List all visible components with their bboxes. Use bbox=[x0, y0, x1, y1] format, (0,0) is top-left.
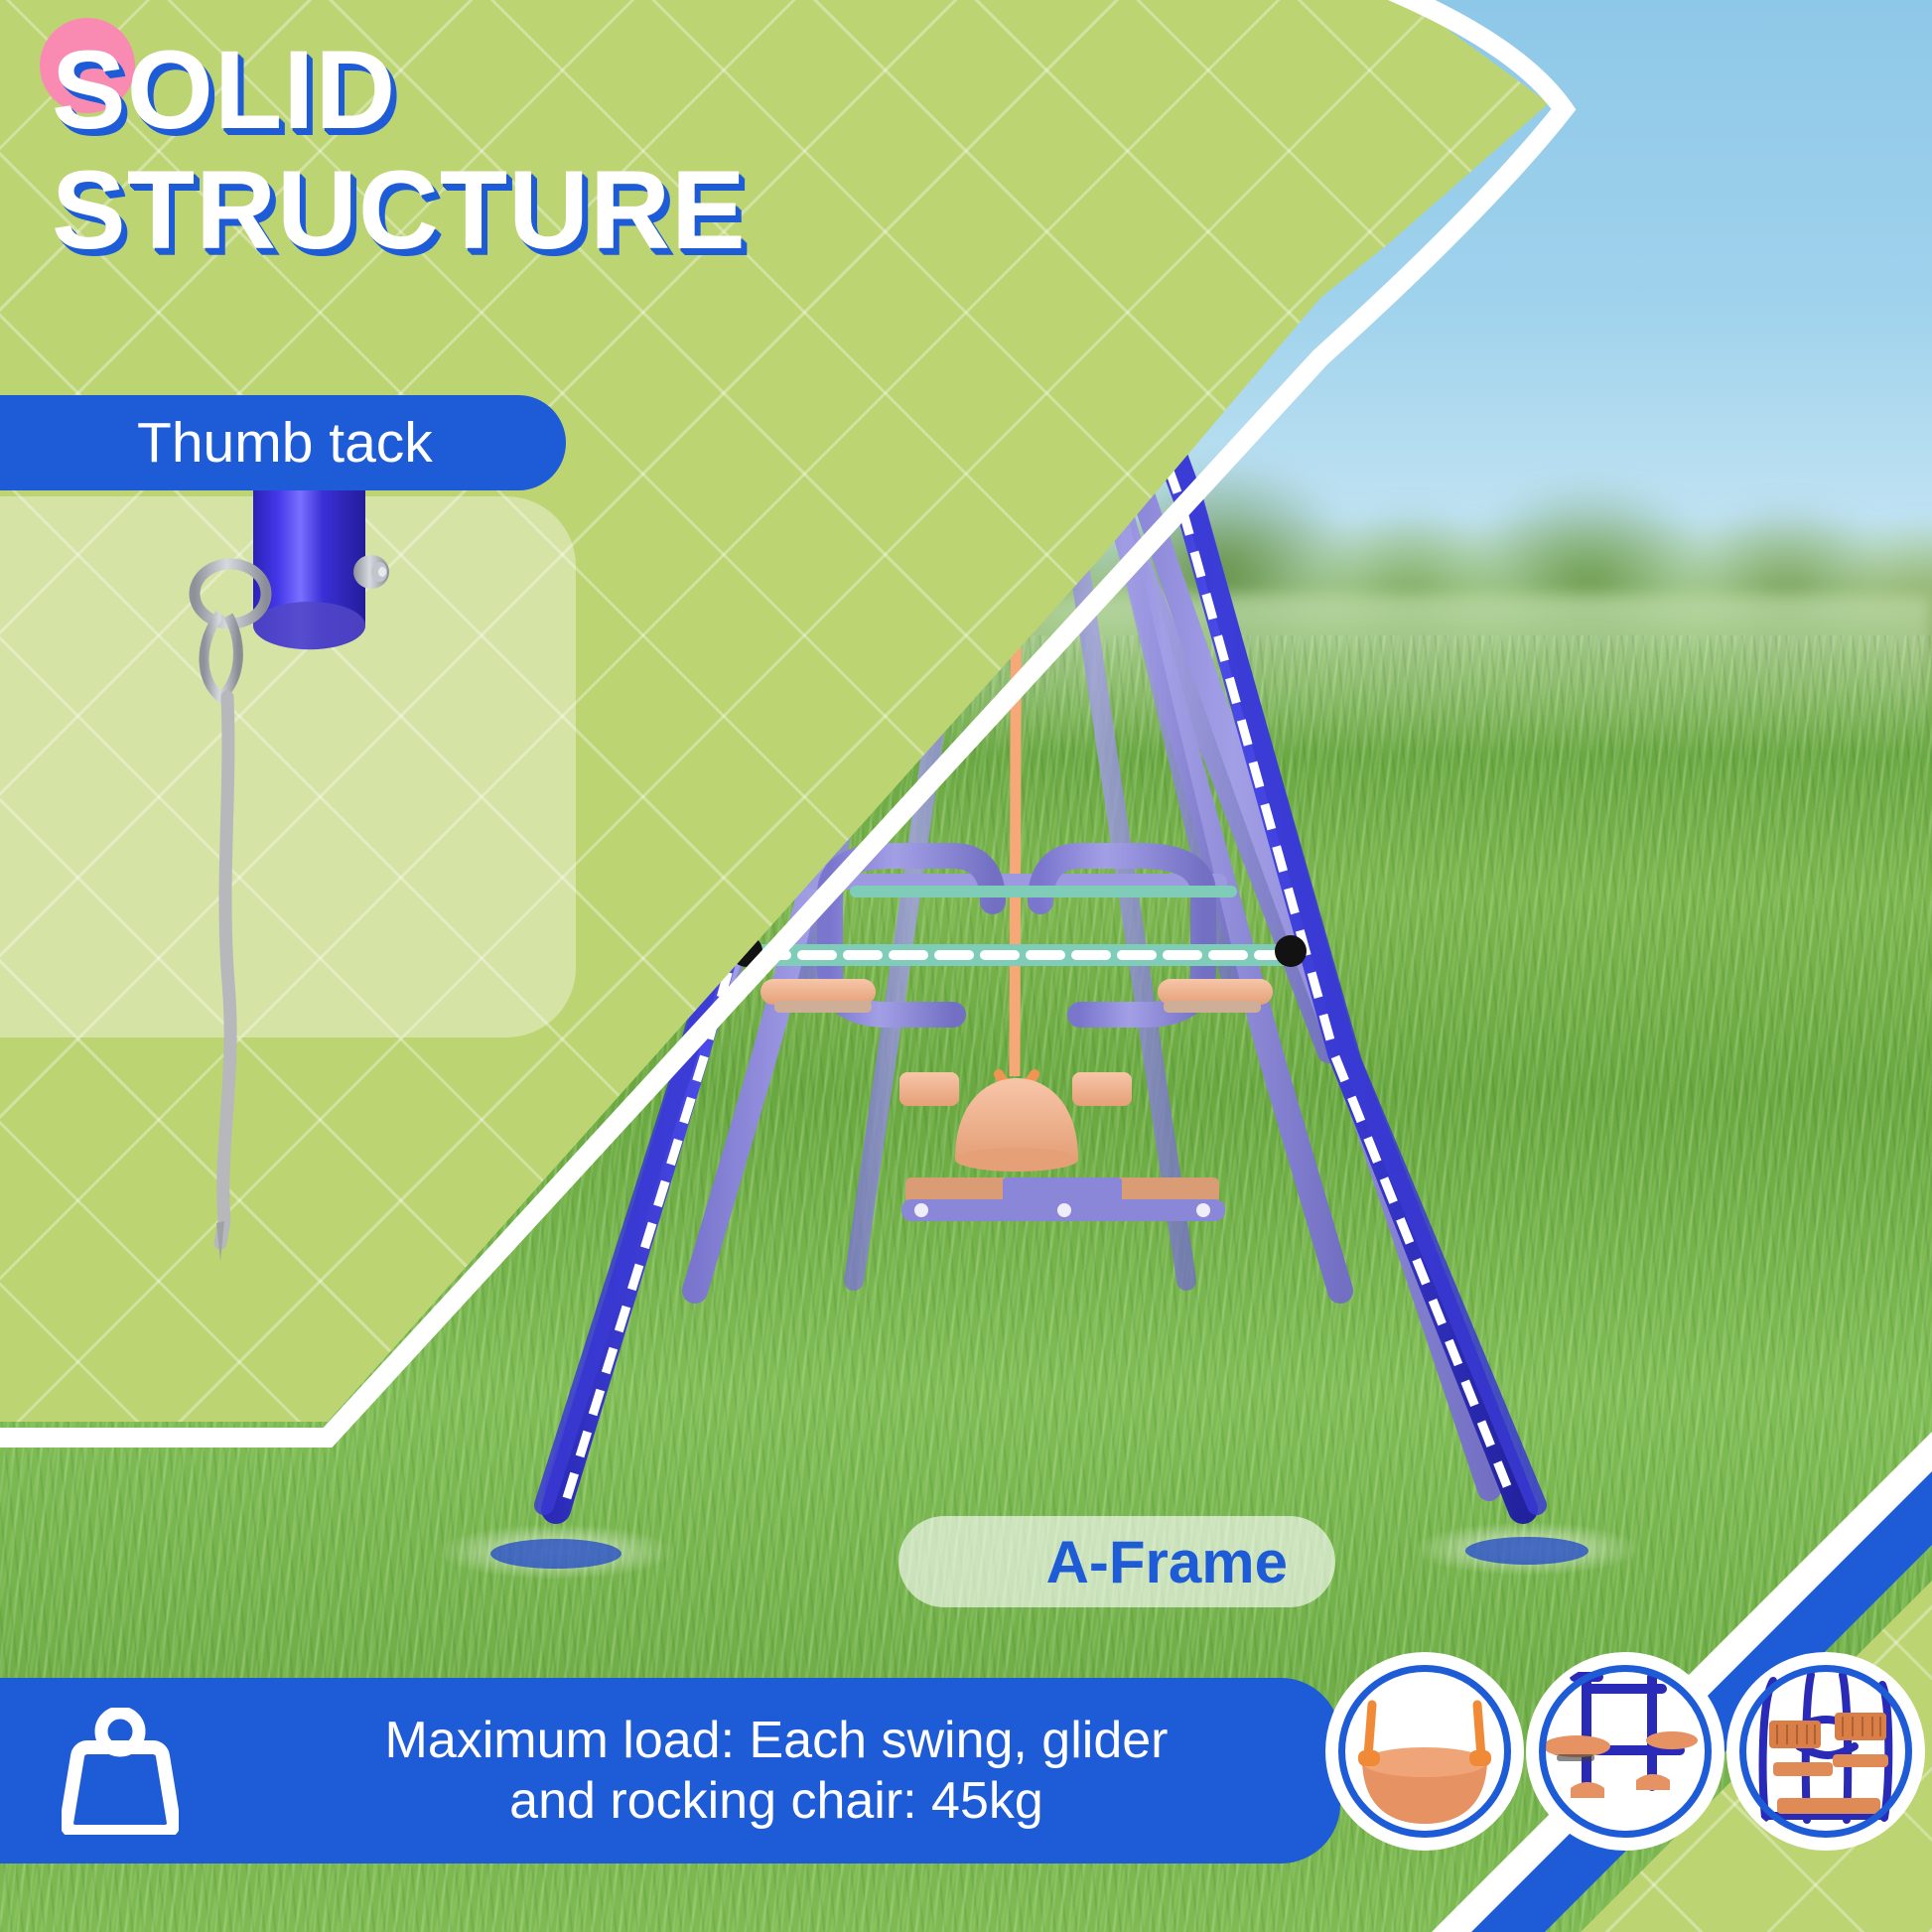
bolt bbox=[353, 555, 389, 589]
saucer-swing-seat bbox=[955, 1078, 1078, 1172]
max-load-line-1: Maximum load: Each swing, glider bbox=[212, 1711, 1340, 1770]
anchor-halo-left bbox=[437, 1524, 675, 1580]
title-line-2: STRUCTURE bbox=[52, 158, 1044, 262]
max-load-bar: Maximum load: Each swing, glider and roc… bbox=[0, 1678, 1340, 1863]
thumb-tack-label: Thumb tack bbox=[0, 395, 566, 490]
max-load-line-2: and rocking chair: 45kg bbox=[212, 1771, 1340, 1831]
weight-icon bbox=[62, 1708, 179, 1835]
marketing-infographic: SOLID STRUCTURE bbox=[0, 0, 1932, 1932]
a-frame-label-text: A-Frame bbox=[1046, 1528, 1288, 1596]
thumb-tack-illustration bbox=[149, 467, 486, 1281]
thumb-tack-label-text: Thumb tack bbox=[137, 410, 433, 476]
title-line-1: SOLID bbox=[52, 38, 1044, 142]
max-load-text: Maximum load: Each swing, glider and roc… bbox=[212, 1711, 1340, 1831]
glider-thumbnail[interactable] bbox=[1526, 1652, 1725, 1851]
product-thumbnails bbox=[1325, 1652, 1925, 1851]
anchor-halo-right bbox=[1413, 1522, 1641, 1576]
swing-seat-thumbnail[interactable] bbox=[1325, 1652, 1524, 1851]
page-title: SOLID STRUCTURE bbox=[52, 38, 1044, 263]
rocking-chair-thumbnail[interactable] bbox=[1726, 1652, 1925, 1851]
a-frame-label: A-Frame bbox=[898, 1516, 1335, 1607]
